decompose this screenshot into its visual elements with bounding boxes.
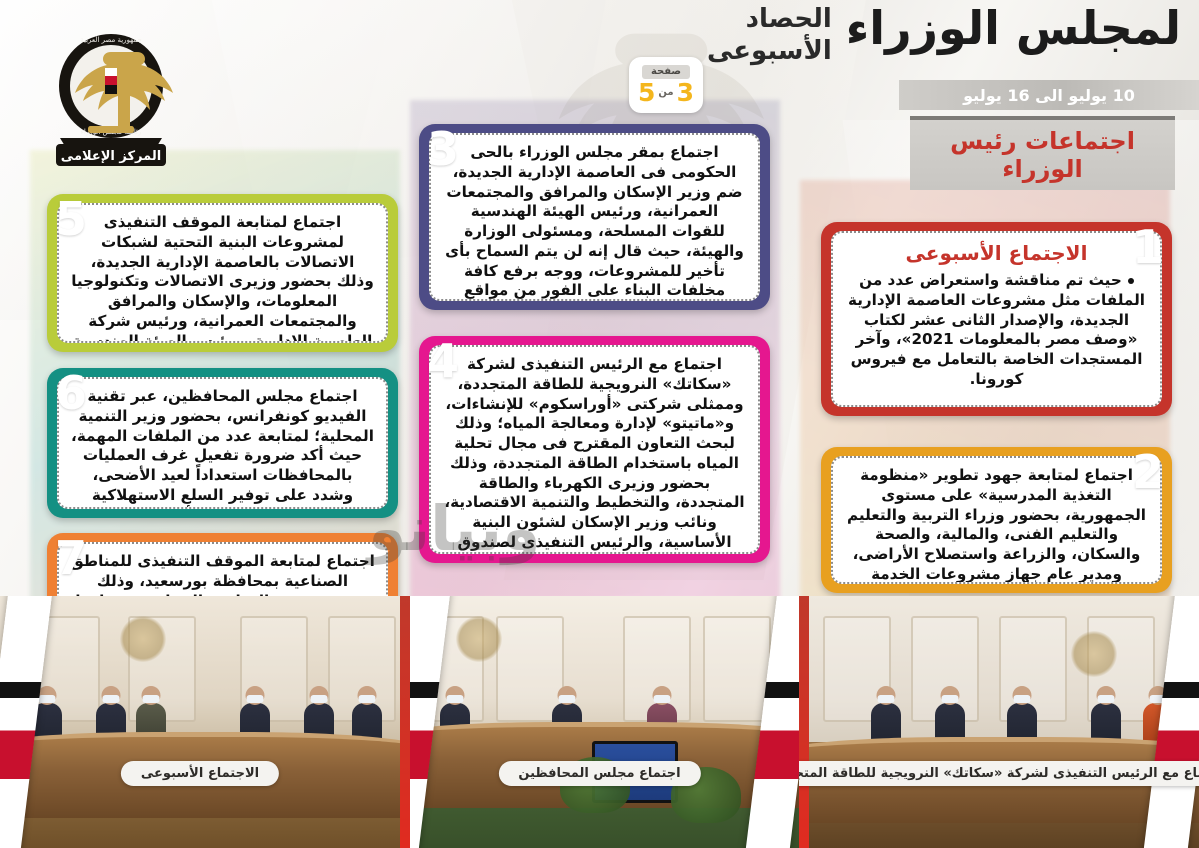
header-title-row: لمجلس الوزراء الحصاد الأسبوعى xyxy=(707,4,1181,67)
svg-text:جمهورية مصر العربية: جمهورية مصر العربية xyxy=(80,36,142,44)
page-badge-numbers: 3 من 5 xyxy=(638,80,694,105)
card-number-2: 2 xyxy=(1132,449,1164,495)
photo-panel-2: اجتماع مجلس المحافظين xyxy=(400,596,799,848)
card-3-content: اجتماع بمقر مجلس الوزراء بالحى الحكومى ف… xyxy=(429,133,760,301)
photo-caption-2: اجتماع مجلس المحافظين xyxy=(498,761,700,786)
card-2-content: اجتماع لمتابعة جهود تطوير «منظومة التغذي… xyxy=(831,456,1162,584)
header-subtitle-block: الحصاد الأسبوعى xyxy=(707,4,832,67)
card-3-body: اجتماع بمقر مجلس الوزراء بالحى الحكومى ف… xyxy=(442,143,747,301)
page-badge-of-word: من xyxy=(658,88,673,98)
header: لمجلس الوزراء الحصاد الأسبوعى 10 يوليو ا… xyxy=(639,0,1199,118)
card-6[interactable]: 6 اجتماع مجلس المحافظين، عبر تقنية الفيد… xyxy=(47,368,398,518)
page-badge-total: 5 xyxy=(638,80,655,105)
card-4[interactable]: 4 اجتماع مع الرئيس التنفيذى لشركة «سكاتك… xyxy=(419,336,770,563)
page-badge-label: صفحة xyxy=(642,65,690,79)
photo-caption-3: الاجتماع الأسبوعى xyxy=(121,761,279,786)
meeting-room-illustration-1 xyxy=(799,596,1199,848)
photo-strip: اجتماع مع الرئيس التنفيذى لشركة «سكاتك» … xyxy=(0,596,1199,848)
card-1-body-text: حيث تم مناقشة واستعراض عدد من الملفات مث… xyxy=(848,271,1145,388)
photo-divider-1 xyxy=(400,596,410,848)
card-1-title: الاجتماع الأسبوعى xyxy=(844,241,1149,265)
card-number-4: 4 xyxy=(427,338,459,384)
card-2[interactable]: 2 اجتماع لمتابعة جهود تطوير «منظومة التغ… xyxy=(821,447,1172,593)
card-5[interactable]: 5 اجتماع لمتابعة الموقف التنفيذى لمشروعا… xyxy=(47,194,398,352)
infographic-page: جمهورية مصر العربية رئاسة مجلس الوزراء ا… xyxy=(0,0,1199,848)
card-2-body: اجتماع لمتابعة جهود تطوير «منظومة التغذي… xyxy=(844,466,1149,584)
card-4-body: اجتماع مع الرئيس التنفيذى لشركة «سكاتك» … xyxy=(442,355,747,554)
card-1[interactable]: 1 الاجتماع الأسبوعى حيث تم مناقشة واستعر… xyxy=(821,222,1172,416)
page-number-badge: صفحة 3 من 5 xyxy=(629,57,703,113)
page-title: لمجلس الوزراء xyxy=(846,4,1181,52)
card-number-6: 6 xyxy=(55,370,87,416)
section-heading-text: اجتماعات رئيس الوزراء xyxy=(910,127,1175,184)
card-5-body: اجتماع لمتابعة الموقف التنفيذى لمشروعات … xyxy=(70,213,375,343)
header-subtitle-line1: الحصاد xyxy=(707,4,832,36)
section-heading: اجتماعات رئيس الوزراء xyxy=(910,116,1175,190)
card-1-body: حيث تم مناقشة واستعراض عدد من الملفات مث… xyxy=(844,271,1149,390)
svg-text:المركز الإعلامى: المركز الإعلامى xyxy=(61,149,161,164)
date-range-text: 10 يوليو الى 16 يوليو xyxy=(963,86,1135,105)
photo-caption-1: اجتماع مع الرئيس التنفيذى لشركة «سكاتك» … xyxy=(799,761,1199,786)
photo-divider-2 xyxy=(799,596,809,848)
card-number-7: 7 xyxy=(55,535,87,581)
card-number-3: 3 xyxy=(427,126,459,172)
meeting-room-illustration-3 xyxy=(0,596,400,848)
page-badge-current: 3 xyxy=(677,80,694,105)
card-6-body: اجتماع مجلس المحافظين، عبر تقنية الفيديو… xyxy=(70,387,375,509)
card-5-content: اجتماع لمتابعة الموقف التنفيذى لمشروعات … xyxy=(57,203,388,343)
card-4-content: اجتماع مع الرئيس التنفيذى لشركة «سكاتك» … xyxy=(429,345,760,554)
date-range-bar: 10 يوليو الى 16 يوليو xyxy=(899,80,1199,110)
header-subtitle-line2: الأسبوعى xyxy=(707,36,832,68)
card-number-5: 5 xyxy=(55,196,87,242)
photo-panel-3: الاجتماع الأسبوعى xyxy=(0,596,400,848)
card-3[interactable]: 3 اجتماع بمقر مجلس الوزراء بالحى الحكومى… xyxy=(419,124,770,310)
meeting-room-illustration-2 xyxy=(400,596,799,848)
card-number-1: 1 xyxy=(1132,224,1164,270)
card-6-content: اجتماع مجلس المحافظين، عبر تقنية الفيديو… xyxy=(57,377,388,509)
cabinet-media-center-logo: جمهورية مصر العربية رئاسة مجلس الوزراء ا… xyxy=(48,26,174,168)
bullet-icon xyxy=(1128,278,1134,284)
card-1-content: الاجتماع الأسبوعى حيث تم مناقشة واستعراض… xyxy=(831,231,1162,407)
photo-panel-1: اجتماع مع الرئيس التنفيذى لشركة «سكاتك» … xyxy=(799,596,1199,848)
